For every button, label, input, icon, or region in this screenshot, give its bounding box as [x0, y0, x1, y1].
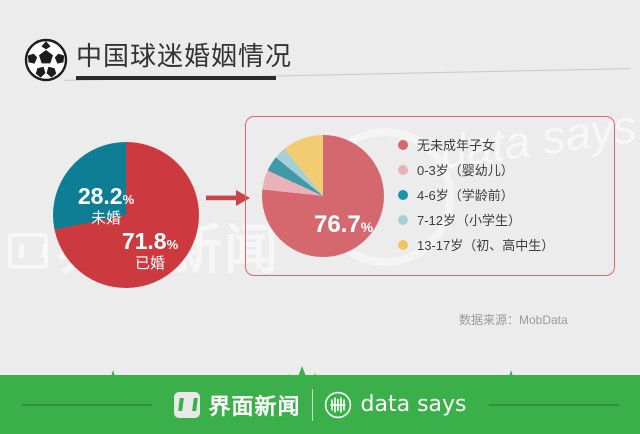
soccer-ball-icon	[24, 38, 68, 82]
legend-label: 7-12岁（小学生）	[417, 210, 521, 229]
single-label: 未婚	[61, 211, 151, 227]
married-unit: %	[167, 237, 179, 252]
footer-line-right	[489, 404, 619, 406]
chart-legend: 无未成年子女 0-3岁（婴幼儿） 4-6岁（学龄前） 7-12岁（小学生） 13…	[398, 132, 608, 257]
jiemian-logo-icon	[174, 392, 200, 418]
pie-slice-label-no-children: 76.7%	[314, 211, 373, 239]
married-label: 已婚	[105, 256, 195, 272]
pie-slice-label-married: 71.8% 已婚	[105, 229, 195, 272]
legend-dot-icon	[398, 240, 408, 250]
footer-content: 界面新闻 data says	[0, 375, 640, 434]
header: 中国球迷婚姻情况	[0, 0, 640, 100]
footer-divider	[312, 389, 313, 421]
legend-label: 4-6岁（学龄前）	[417, 185, 514, 204]
brand-name: 界面新闻	[209, 389, 301, 421]
pie-slice-label-single: 28.2% 未婚	[61, 184, 151, 227]
marital-status-pie: 28.2% 未婚 71.8% 已婚	[53, 142, 199, 288]
no-children-value: 76.7	[314, 211, 361, 238]
children-age-breakdown-pie: 76.7%	[262, 135, 384, 257]
no-children-unit: %	[361, 219, 373, 235]
legend-dot-icon	[398, 165, 408, 175]
legend-item: 13-17岁（初、高中生）	[398, 232, 608, 257]
legend-label: 无未成年子女	[417, 135, 495, 154]
infographic-canvas: 界面新闻 data says 中国球迷婚姻情况 28.2% 未婚 71.8% 已…	[0, 0, 640, 434]
page-title: 中国球迷婚姻情况	[76, 40, 292, 72]
watermark-logo-icon	[8, 233, 48, 269]
legend-item: 0-3岁（婴幼儿）	[398, 157, 608, 182]
single-value: 28.2	[78, 183, 123, 209]
legend-item: 无未成年子女	[398, 132, 608, 157]
children-breakdown-panel: 76.7% 无未成年子女 0-3岁（婴幼儿） 4-6岁（学龄前） 7-12岁（小…	[245, 116, 615, 276]
data-source-note: 数据来源：MobData	[459, 311, 568, 328]
legend-label: 13-17岁（初、高中生）	[417, 235, 554, 254]
married-value: 71.8	[122, 228, 167, 254]
legend-item: 7-12岁（小学生）	[398, 207, 608, 232]
footer-line-left	[22, 404, 152, 406]
legend-dot-icon	[398, 215, 408, 225]
header-divider-thick	[76, 76, 276, 80]
data-says-label: data says	[361, 392, 467, 417]
legend-dot-icon	[398, 140, 408, 150]
legend-item: 4-6岁（学龄前）	[398, 182, 608, 207]
legend-label: 0-3岁（婴幼儿）	[417, 160, 514, 179]
single-unit: %	[123, 192, 135, 207]
data-says-circle-icon	[324, 391, 352, 419]
legend-dot-icon	[398, 190, 408, 200]
footer-bar: 界面新闻 data says	[0, 375, 640, 434]
